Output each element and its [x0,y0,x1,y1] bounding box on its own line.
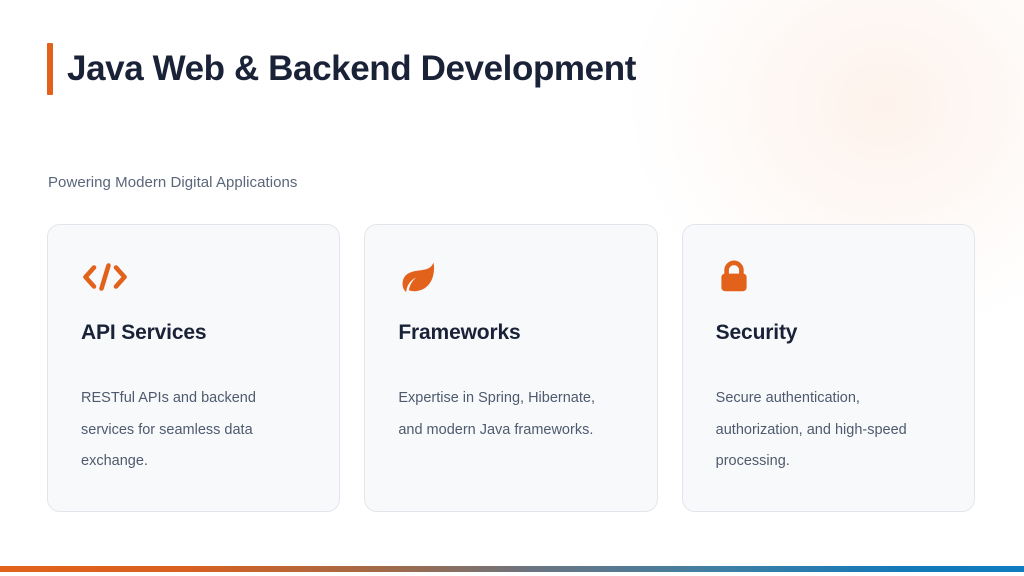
feature-card-list: API Services RESTful APIs and backend se… [47,224,975,512]
feature-card-security[interactable]: Security Secure authentication, authoriz… [682,224,975,512]
page-title: Java Web & Backend Development [53,43,636,95]
card-title: API Services [81,297,307,346]
card-title: Frameworks [398,297,624,346]
card-description: Expertise in Spring, Hibernate, and mode… [398,346,613,446]
lock-icon [716,257,942,297]
slide: Java Web & Backend Development Powering … [0,0,1024,576]
feature-card-frameworks[interactable]: Frameworks Expertise in Spring, Hibernat… [364,224,657,512]
card-title: Security [716,297,942,346]
leaf-icon [398,257,624,297]
code-icon [81,257,307,297]
card-description: RESTful APIs and backend services for se… [81,346,296,478]
page-subtitle: Powering Modern Digital Applications [48,172,297,194]
card-description: Secure authentication, authorization, an… [716,346,931,478]
feature-card-api-services[interactable]: API Services RESTful APIs and backend se… [47,224,340,512]
bottom-accent-bar [0,566,1024,572]
page-header: Java Web & Backend Development [47,43,636,95]
